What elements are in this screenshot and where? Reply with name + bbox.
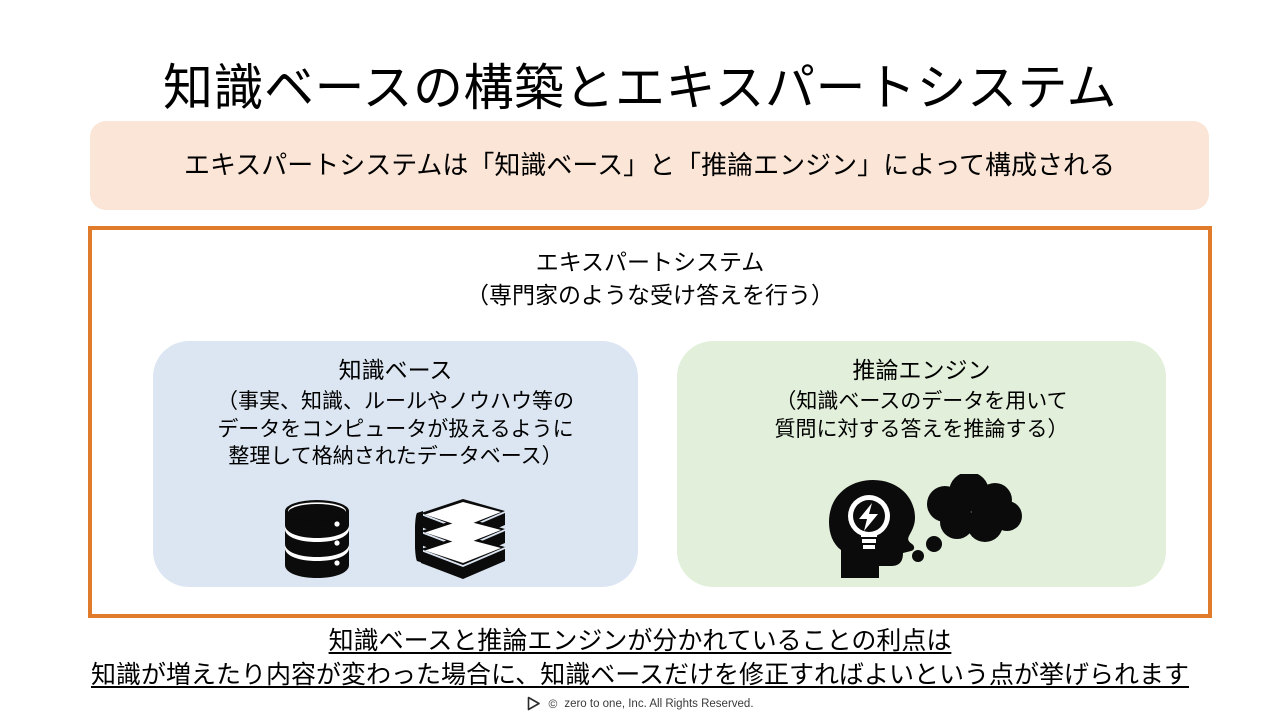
- inference-engine-icon-row: [677, 474, 1166, 579]
- knowledge-base-heading: 知識ベース: [153, 355, 638, 386]
- expert-system-heading-line1: エキスパートシステム: [92, 246, 1208, 279]
- inference-engine-description: （知識ベースのデータを用いて 質問に対する答えを推論する）: [677, 388, 1166, 443]
- expert-system-heading-line2: （専門家のような受け答えを行う）: [92, 279, 1208, 312]
- page-title: 知識ベースの構築とエキスパートシステム: [0, 60, 1280, 118]
- expert-system-heading: エキスパートシステム （専門家のような受け答えを行う）: [92, 246, 1208, 311]
- knowledge-base-description: （事実、知識、ルールやノウハウ等の データをコンピュータが扱えるように 整理して…: [153, 388, 638, 471]
- inference-engine-heading: 推論エンジン: [677, 355, 1166, 386]
- conclusion-text: 知識ベースと推論エンジンが分かれていることの利点は 知識が増えたり内容が変わった…: [0, 624, 1280, 692]
- footer-text: zero to one, Inc. All Rights Reserved.: [564, 698, 753, 710]
- books-icon: [415, 495, 511, 579]
- conclusion-line-1: 知識ベースと推論エンジンが分かれていることの利点は: [0, 624, 1280, 658]
- expert-system-frame: エキスパートシステム （専門家のような受け答えを行う） 知識ベース （事実、知識…: [88, 226, 1212, 618]
- database-icon: [281, 497, 353, 579]
- footer: © zero to one, Inc. All Rights Reserved.: [0, 696, 1280, 711]
- copyright-symbol: ©: [548, 697, 557, 711]
- subtitle-banner: エキスパートシステムは「知識ベース」と「推論エンジン」によって構成される: [90, 121, 1209, 210]
- knowledge-base-icon-row: [153, 495, 638, 579]
- inference-engine-card: 推論エンジン （知識ベースのデータを用いて 質問に対する答えを推論する）: [677, 341, 1166, 587]
- conclusion-line-2: 知識が増えたり内容が変わった場合に、知識ベースだけを修正すればよいという点が挙げ…: [0, 658, 1280, 692]
- head-thought-icon: [817, 474, 1027, 579]
- play-triangle-icon: [526, 696, 541, 711]
- thought-cloud-icon: [912, 474, 1022, 562]
- subtitle-banner-text: エキスパートシステムは「知識ベース」と「推論エンジン」によって構成される: [184, 149, 1115, 183]
- knowledge-base-card: 知識ベース （事実、知識、ルールやノウハウ等の データをコンピュータが扱えるよう…: [153, 341, 638, 587]
